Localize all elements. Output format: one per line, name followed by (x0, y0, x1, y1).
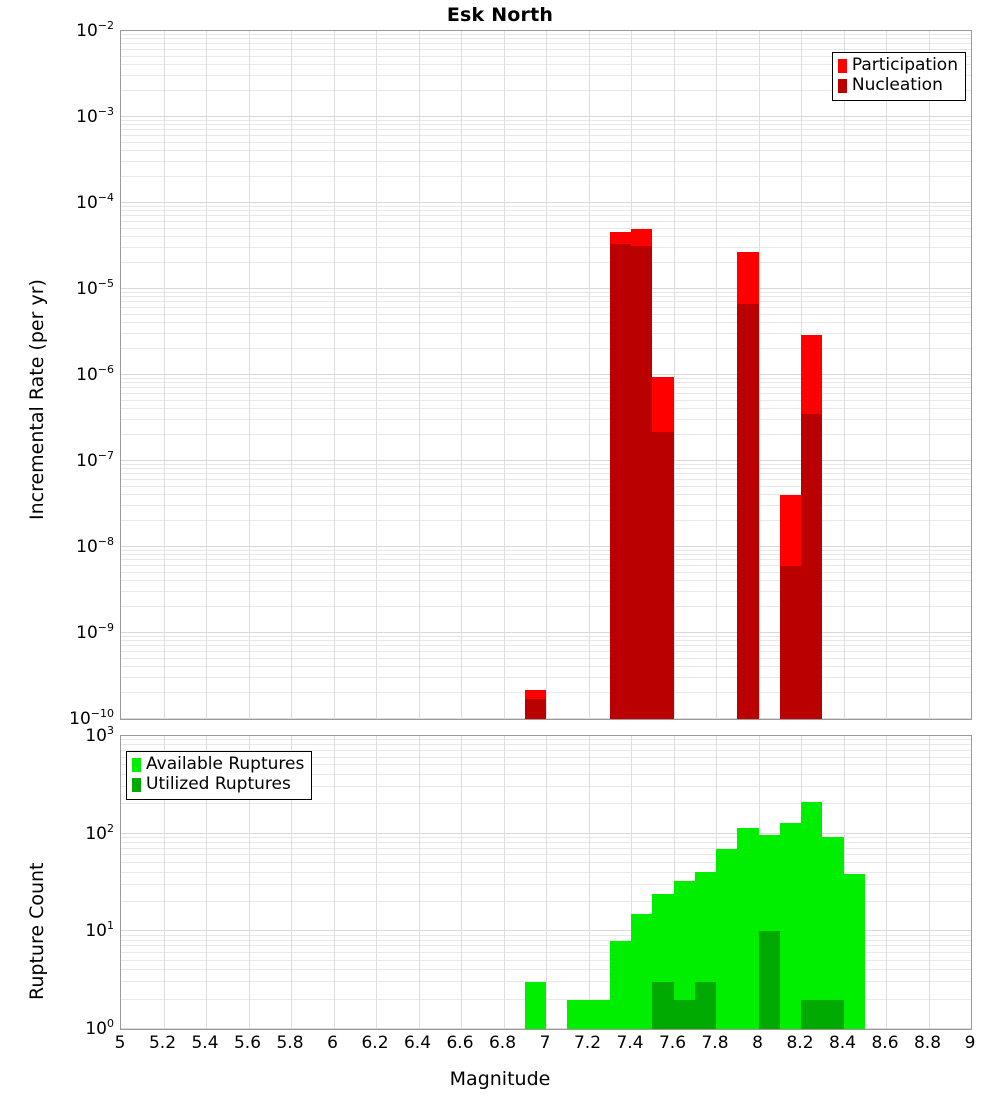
legend-label-participation: Participation (852, 57, 958, 75)
bottom-legend: Available Ruptures Utilized Ruptures (126, 751, 312, 800)
top-y-tick: 10−4 (76, 191, 114, 213)
legend-label-available: Available Ruptures (146, 756, 304, 774)
legend-item-participation: Participation (838, 57, 958, 75)
available-bar (801, 802, 822, 1029)
available-bar (525, 982, 546, 1029)
available-bar (716, 849, 737, 1029)
nucleation-swatch (838, 79, 847, 93)
participation-bar (525, 690, 546, 719)
available-bar (695, 872, 716, 1030)
utilized-segment (695, 982, 716, 1029)
utilized-segment (801, 1000, 822, 1029)
nucleation-segment (780, 566, 801, 719)
x-tick: 5 (115, 1033, 126, 1053)
x-tick: 5.8 (276, 1033, 303, 1053)
top-y-axis-label: Incremental Rate (per yr) (26, 279, 48, 520)
available-bar (674, 881, 695, 1029)
utilized-segment (652, 982, 673, 1029)
page-title: Esk North (0, 4, 1000, 26)
top-plot-frame (120, 30, 972, 720)
figure-root: Esk North 10−210−310−410−510−610−710−810… (0, 0, 1000, 1100)
available-bar (589, 1000, 610, 1029)
bottom-y-tick: 102 (85, 822, 114, 844)
x-tick: 8 (752, 1033, 763, 1053)
top-y-tick: 10−6 (76, 363, 114, 385)
x-tick: 8.4 (829, 1033, 856, 1053)
available-swatch (132, 758, 141, 772)
legend-label-nucleation: Nucleation (852, 77, 943, 95)
top-legend: Participation Nucleation (832, 52, 966, 101)
x-axis-label: Magnitude (0, 1068, 1000, 1090)
participation-bar (652, 377, 673, 719)
available-bar (631, 914, 652, 1029)
available-bar (780, 823, 801, 1029)
bottom-y-tick: 100 (85, 1017, 114, 1039)
nucleation-segment (801, 414, 822, 719)
available-bar (822, 837, 843, 1029)
legend-item-nucleation: Nucleation (838, 77, 958, 95)
top-y-tick: 10−3 (76, 105, 114, 127)
legend-label-utilized: Utilized Ruptures (146, 776, 291, 794)
x-tick: 6.2 (361, 1033, 388, 1053)
utilized-segment (822, 1000, 843, 1029)
x-tick: 6.8 (489, 1033, 516, 1053)
legend-item-available: Available Ruptures (132, 756, 304, 774)
x-tick: 6 (327, 1033, 338, 1053)
available-bar (652, 894, 673, 1029)
utilized-segment (674, 1000, 695, 1029)
legend-item-utilized: Utilized Ruptures (132, 776, 304, 794)
available-bar (567, 1000, 588, 1029)
nucleation-segment (631, 246, 652, 719)
available-bar (759, 835, 780, 1029)
nucleation-segment (610, 244, 631, 719)
x-tick: 5.6 (234, 1033, 261, 1053)
x-tick: 7.4 (616, 1033, 643, 1053)
x-tick: 6.4 (404, 1033, 431, 1053)
participation-bar (780, 495, 801, 719)
x-tick: 7.6 (659, 1033, 686, 1053)
x-tick: 7.8 (701, 1033, 728, 1053)
available-bar (737, 828, 758, 1029)
available-bar (610, 941, 631, 1029)
top-y-tick: 10−9 (76, 621, 114, 643)
top-y-tick: 10−8 (76, 535, 114, 557)
nucleation-segment (652, 432, 673, 719)
x-tick: 5.4 (191, 1033, 218, 1053)
top-bar-series (121, 31, 971, 719)
top-y-tick: 10−5 (76, 277, 114, 299)
nucleation-segment (737, 304, 758, 719)
participation-bar (610, 232, 631, 719)
x-tick: 6.6 (446, 1033, 473, 1053)
bottom-y-axis-label: Rupture Count (26, 863, 48, 1001)
top-y-tick: 10−2 (76, 19, 114, 41)
bottom-y-tick: 103 (85, 724, 114, 746)
x-tick: 8.6 (871, 1033, 898, 1053)
participation-swatch (838, 59, 847, 73)
incremental-rate-panel: 10−210−310−410−510−610−710−810−910−10 Pa… (120, 30, 972, 720)
participation-bar (801, 335, 822, 719)
nucleation-segment (525, 699, 546, 719)
available-bar (844, 874, 865, 1029)
utilized-segment (759, 931, 780, 1029)
x-tick: 7 (540, 1033, 551, 1053)
participation-bar (737, 252, 758, 719)
x-tick: 8.8 (914, 1033, 941, 1053)
bottom-y-tick: 101 (85, 920, 114, 942)
x-tick: 7.2 (574, 1033, 601, 1053)
x-tick: 8.2 (786, 1033, 813, 1053)
x-tick: 5.2 (149, 1033, 176, 1053)
utilized-swatch (132, 778, 141, 792)
x-tick: 9 (965, 1033, 976, 1053)
top-y-tick: 10−7 (76, 449, 114, 471)
participation-bar (631, 229, 652, 719)
rupture-count-panel: 100101102103 55.25.45.65.866.26.46.66.87… (120, 735, 972, 1030)
